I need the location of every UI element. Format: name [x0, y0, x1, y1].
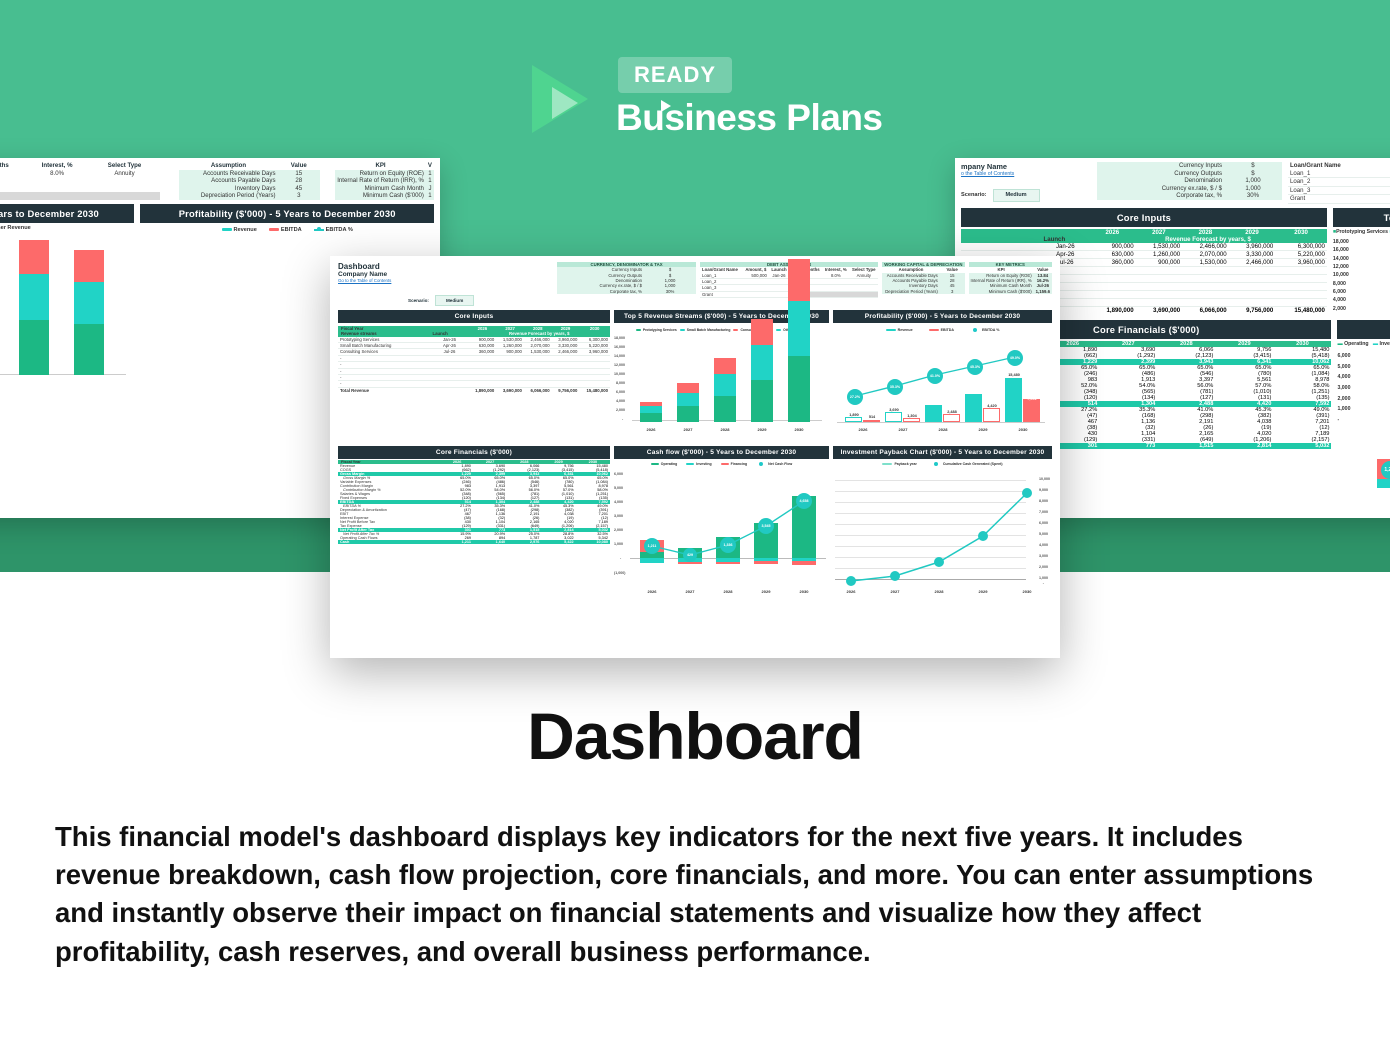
debt-col-header: Launch	[769, 267, 789, 272]
x-tick: 2028	[928, 427, 958, 432]
cumulative-cash-line	[833, 468, 1052, 596]
data-label: 4,420	[980, 404, 1004, 408]
core-inputs-title: Core Inputs	[338, 310, 610, 323]
company-name: Company Name	[338, 271, 557, 278]
table-row: Cash1,2111,6402,9765,42210,080	[338, 540, 610, 544]
x-tick: 2030	[789, 589, 819, 594]
table-of-contents-link[interactable]: Go to the Table of Contents	[338, 278, 557, 283]
legend-item[interactable]: Financing	[721, 462, 748, 466]
data-bubble: 27.2%	[847, 389, 863, 405]
slide-description: This financial model's dashboard display…	[55, 818, 1340, 971]
core-financials-title: Core Financials ($'000)	[338, 446, 610, 459]
x-tick: 2027	[673, 427, 703, 432]
x-tick: 2026	[837, 589, 865, 594]
scenario-label: Scenario:	[408, 298, 429, 303]
debt-col-header: Select Type	[849, 267, 878, 272]
fin-value: 1,211	[441, 540, 473, 544]
legend-item[interactable]: Prototyping Services	[636, 328, 677, 332]
core-inputs-table: Fiscal Year 2026 2027 2028 2029 2030 Rev…	[338, 326, 610, 442]
data-label: 7,592	[1020, 397, 1044, 401]
data-label: 1,304	[900, 414, 924, 418]
debt-col-header: Loan/Grant Name	[700, 267, 743, 272]
data-bubble: 49.0%	[1007, 350, 1023, 366]
legend-item[interactable]: Cumulative Cash Generated (Spent)	[931, 462, 1003, 466]
legend-item[interactable]: Investing	[686, 462, 711, 466]
x-tick: 2028	[925, 589, 953, 594]
data-bubble: 45.3%	[967, 359, 983, 375]
data-bubble: 3,545	[758, 518, 774, 534]
fin-value: 10,080	[576, 540, 610, 544]
data-label: 9,756	[962, 389, 986, 393]
loan-name: Grant	[700, 291, 743, 297]
legend-item[interactable]: Revenue	[886, 328, 913, 332]
net-cash-flow-line	[614, 468, 829, 596]
slide-title: Dashboard	[0, 698, 1390, 774]
currency-row-label: Corporate tax, %	[557, 289, 644, 294]
legend-item[interactable]: EBITDA %	[970, 328, 999, 332]
data-label: 3,690	[882, 408, 906, 412]
x-tick: 2026	[848, 427, 878, 432]
play-triangle-icon	[528, 59, 598, 139]
slide-page: READY Business Plans Amount, $Launch Ter…	[0, 0, 1390, 1043]
x-tick: 2030	[784, 427, 814, 432]
x-tick: 2029	[747, 427, 777, 432]
x-tick: 2026	[636, 427, 666, 432]
data-label: 514	[860, 415, 884, 419]
wc-label: Depreciation Period (Years)	[882, 289, 940, 294]
profitability-chart: Revenue EBITDA EBITDA %	[833, 326, 1052, 442]
key-metrics-panel: KEY METRICS KPIValue Return on Equity (R…	[969, 262, 1052, 306]
chart-title-profitability: Profitability ($'000) - 5 Years to Decem…	[833, 310, 1052, 323]
x-tick: 2030	[1013, 589, 1041, 594]
x-tick: 2030	[1008, 427, 1038, 432]
brand-name: Business Plans	[616, 97, 883, 139]
brand-logo: READY Business Plans	[528, 55, 888, 147]
wc-value: 3	[940, 289, 965, 294]
chart-title-profitability-left: Profitability ($'000) - 5 Years to Decem…	[140, 204, 434, 223]
debt-col-header: Amount, $	[743, 267, 769, 272]
legend-item[interactable]: Payback year	[882, 462, 916, 466]
table-row: Minimum Cash ($'000)1,159.6	[969, 289, 1052, 294]
data-bubble: 429	[683, 548, 697, 562]
data-label: 2,488	[940, 410, 964, 414]
top5-revenue-chart: Prototyping Services Small Batch Manufac…	[614, 326, 829, 442]
fin-value: 1,640	[473, 540, 507, 544]
core-financials-table: Fiscal Year 2026 2027 2028 2029 2030 Rev…	[338, 460, 610, 598]
scenario-select[interactable]: Medium	[435, 295, 474, 306]
data-bubble: 41.0%	[927, 368, 943, 384]
total-revenue-row: Total Revenue 1,890,000 3,690,000 6,066,…	[338, 387, 610, 393]
legend-item[interactable]: EBITDA	[929, 328, 954, 332]
x-tick: 2029	[968, 427, 998, 432]
chart-title-top5-left: evenue Streams ($'000) - 5 Years to Dece…	[0, 204, 134, 223]
total-value: 1,890,000	[469, 387, 497, 393]
ready-badge: READY	[618, 57, 732, 93]
data-bubble: 35.3%	[887, 379, 903, 395]
table-row[interactable]: Depreciation Period (Years)3	[882, 289, 964, 294]
fin-label: Cash	[338, 540, 441, 544]
x-tick: 2027	[888, 427, 918, 432]
chart-title-cashflow: Cash flow ($'000) - 5 Years to December …	[614, 446, 829, 459]
x-tick: 2028	[710, 427, 740, 432]
total-label: Total Revenue	[338, 387, 430, 393]
data-bubble: 1,211	[644, 538, 660, 554]
x-tick: 2026	[637, 589, 667, 594]
x-tick: 2029	[751, 589, 781, 594]
x-tick: 2027	[881, 589, 909, 594]
data-label: 15,480	[1001, 373, 1027, 377]
x-tick: 2027	[675, 589, 705, 594]
brand-accent-triangle-icon	[661, 100, 671, 112]
currency-panel: CURRENCY, DENOMINATOR & TAX Currency Inp…	[557, 262, 696, 306]
total-value: 15,480,000	[579, 387, 610, 393]
chart-title-payback: Investment Payback Chart ($'000) - 5 Yea…	[833, 446, 1052, 459]
cash-flow-chart: Operating Investing Financing Net Cash F…	[614, 460, 829, 598]
legend-item[interactable]: Operating	[651, 462, 678, 466]
data-bubble: 4,658	[796, 493, 812, 509]
total-value: 3,690,000	[496, 387, 524, 393]
investment-payback-chart: Payback year Cumulative Cash Generated (…	[833, 460, 1052, 598]
dashboard-sheet[interactable]: Dashboard Company Name Go to the Table o…	[330, 256, 1060, 658]
data-bubble: 1,336	[720, 537, 736, 553]
x-tick: 2028	[713, 589, 743, 594]
kpi-label: Minimum Cash ($'000)	[969, 289, 1034, 294]
fin-value: 5,422	[541, 540, 575, 544]
total-value: 9,756,000	[552, 387, 580, 393]
legend-item[interactable]: Net Cash Flow	[756, 462, 792, 466]
total-value: 6,066,000	[524, 387, 552, 393]
page-title: Dashboard	[338, 262, 557, 271]
data-label: 6,066	[922, 400, 946, 404]
legend-item[interactable]: Small Batch Manufacturing	[680, 328, 731, 332]
x-tick: 2029	[969, 589, 997, 594]
kpi-value: 1,159.6	[1034, 289, 1052, 294]
currency-row-value[interactable]: 30%	[644, 289, 696, 294]
fin-value: 2,976	[507, 540, 541, 544]
debt-col-header: Interest, %	[822, 267, 849, 272]
working-capital-panel: WORKING CAPITAL & DEPRECIATION Assumptio…	[882, 262, 964, 306]
